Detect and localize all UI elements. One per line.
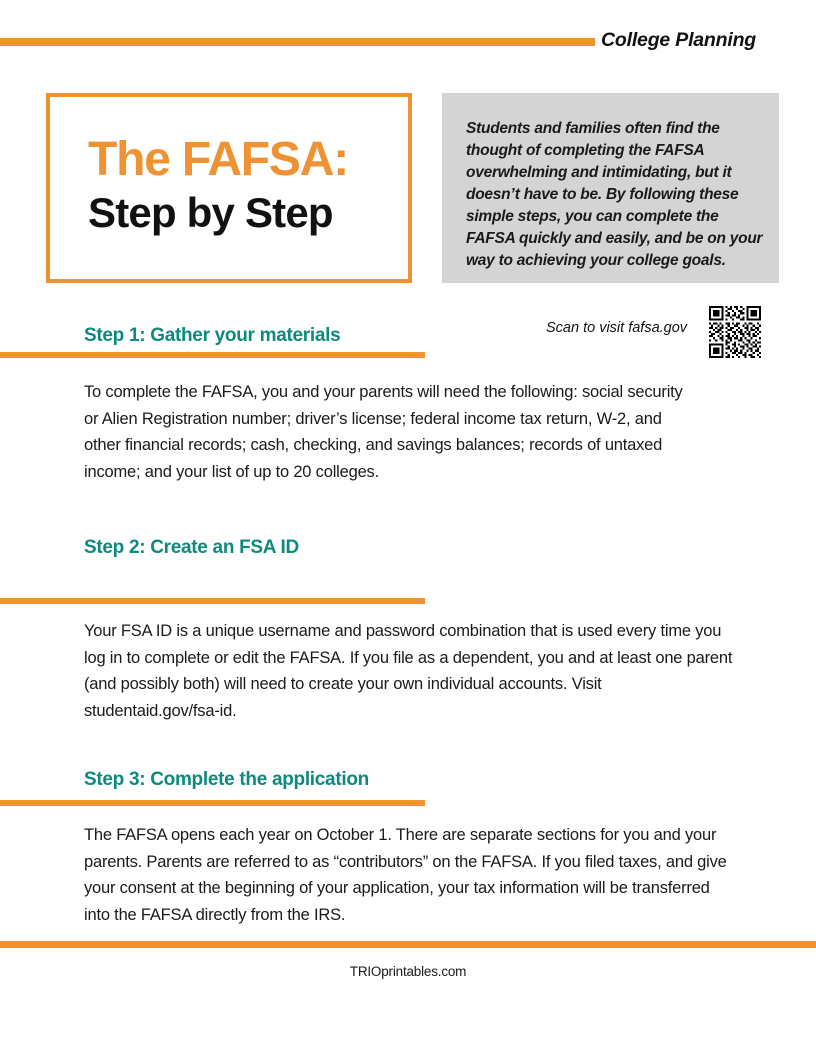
step-3-rule <box>0 800 425 806</box>
intro-callout-box: Students and families often find the tho… <box>442 93 779 283</box>
footer-accent-rule <box>0 941 816 948</box>
footer-site-label: TRIOprintables.com <box>0 964 816 979</box>
step-1-heading: Step 1: Gather your materials <box>84 325 340 347</box>
step-2-rule <box>0 598 425 604</box>
step-2-heading: Step 2: Create an FSA ID <box>84 537 299 559</box>
qr-code-icon[interactable] <box>709 306 761 358</box>
step-1-rule <box>0 352 425 358</box>
title-card: The FAFSA: Step by Step <box>46 93 412 283</box>
title-card-inner: The FAFSA: Step by Step <box>88 135 348 238</box>
intro-paragraph: Students and families often find the tho… <box>466 118 765 272</box>
step-1-body: To complete the FAFSA, you and your pare… <box>84 379 684 486</box>
step-3-heading: Step 3: Complete the application <box>84 769 369 791</box>
header-category-title: College Planning <box>601 29 756 52</box>
title-line-primary: The FAFSA: <box>88 135 348 185</box>
header-accent-rule <box>0 38 595 46</box>
scan-instruction-label: Scan to visit fafsa.gov <box>546 320 687 336</box>
step-3-body: The FAFSA opens each year on October 1. … <box>84 822 734 929</box>
step-2-body: Your FSA ID is a unique username and pas… <box>84 618 739 725</box>
title-line-secondary: Step by Step <box>88 189 348 237</box>
